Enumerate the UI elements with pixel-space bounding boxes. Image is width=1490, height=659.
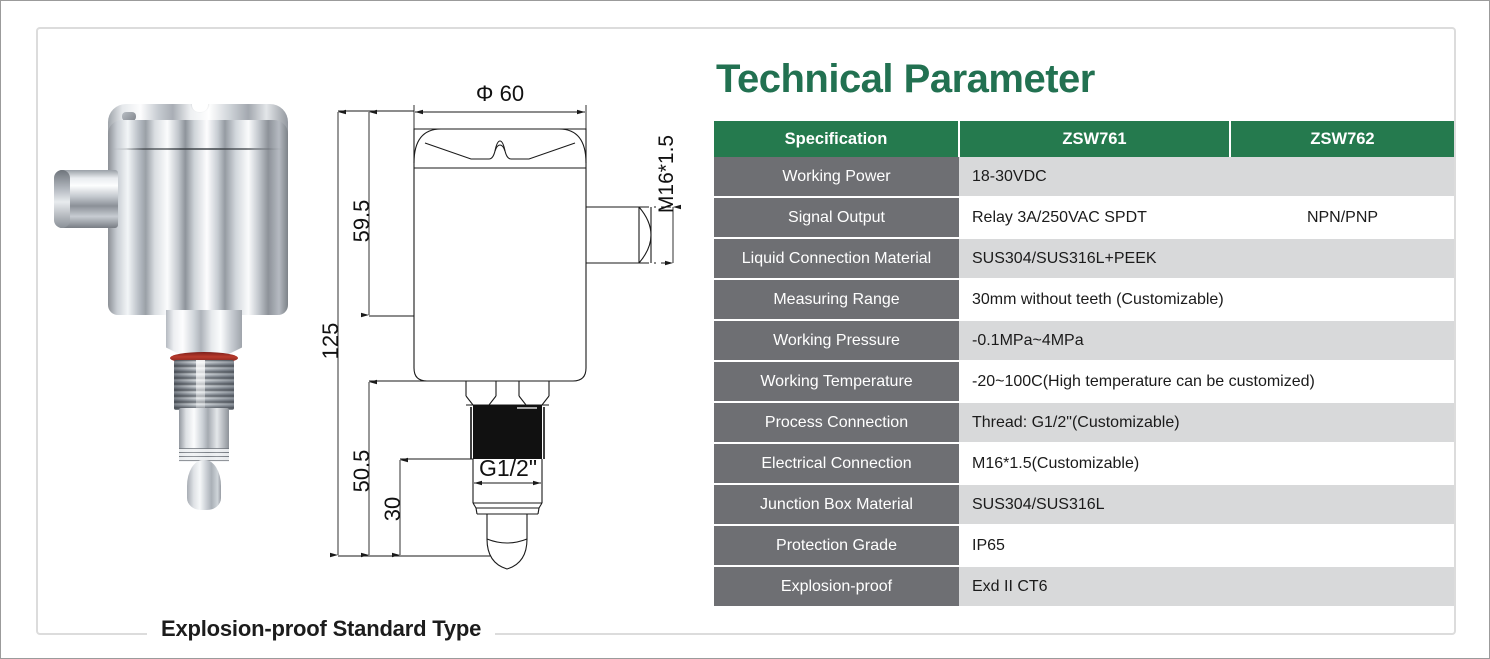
row-value-zsw762: NPN/PNP [1230,197,1454,238]
figure-caption: Explosion-proof Standard Type [161,616,481,642]
column-header-zsw762: ZSW762 [1230,121,1454,157]
product-photo [46,96,316,566]
row-key: Junction Box Material [714,484,959,525]
specification-table: Specification ZSW761 ZSW762 Working Powe… [714,121,1454,608]
cap-seam-line [112,148,284,150]
row-key: Explosion-proof [714,566,959,607]
table-row: Explosion-proof Exd II CT6 [714,566,1454,607]
page-title: Technical Parameter [716,59,1454,99]
column-header-specification: Specification [714,121,959,157]
table-row: Junction Box Material SUS304/SUS316L [714,484,1454,525]
dim-total-height: 125 [321,323,343,360]
row-key: Working Temperature [714,361,959,402]
thread-highlight [196,360,205,410]
table-header-row: Specification ZSW761 ZSW762 [714,121,1454,157]
row-key: Measuring Range [714,279,959,320]
row-value-zsw761: 18-30VDC [959,157,1454,197]
table-row: Signal Output Relay 3A/250VAC SPDT NPN/P… [714,197,1454,238]
dim-diameter: Φ 60 [476,81,524,106]
row-key: Liquid Connection Material [714,238,959,279]
row-value-zsw761: Thread: G1/2"(Customizable) [959,402,1454,443]
row-value-zsw761: -20~100C(High temperature can be customi… [959,361,1454,402]
dim-thread-length: 30 [380,497,405,521]
row-key: Electrical Connection [714,443,959,484]
table-row: Working Temperature -20~100C(High temper… [714,361,1454,402]
row-value-zsw761: 30mm without teeth (Customizable) [959,279,1454,320]
row-value-zsw761: IP65 [959,525,1454,566]
row-value-zsw761: Exd II CT6 [959,566,1454,607]
row-value-zsw761: SUS304/SUS316L+PEEK [959,238,1454,279]
caption-container: Explosion-proof Standard Type [147,612,495,646]
row-key: Working Pressure [714,320,959,361]
table-row: Protection Grade IP65 [714,525,1454,566]
row-key: Protection Grade [714,525,959,566]
table-row: Working Pressure -0.1MPa~4MPa [714,320,1454,361]
dim-process-thread: G1/2" [479,455,537,481]
cable-entry-face [54,170,70,228]
row-key: Process Connection [714,402,959,443]
table-row: Measuring Range 30mm without teeth (Cust… [714,279,1454,320]
row-key: Working Power [714,157,959,197]
cap-notch [192,100,208,112]
probe-tip [187,460,221,510]
row-value-zsw761: SUS304/SUS316L [959,484,1454,525]
row-value-zsw761: Relay 3A/250VAC SPDT [959,197,1230,238]
row-value-zsw761: -0.1MPa~4MPa [959,320,1454,361]
row-value-zsw761: M16*1.5(Customizable) [959,443,1454,484]
table-row: Electrical Connection M16*1.5(Customizab… [714,443,1454,484]
dim-probe-height: 50.5 [349,450,374,493]
row-key: Signal Output [714,197,959,238]
column-header-zsw761: ZSW761 [959,121,1230,157]
technical-parameter-section: Technical Parameter Specification ZSW761… [714,59,1454,608]
dim-housing-height: 59.5 [349,200,374,243]
hex-nut [166,310,242,358]
table-row: Liquid Connection Material SUS304/SUS316… [714,238,1454,279]
table-row: Process Connection Thread: G1/2"(Customi… [714,402,1454,443]
table-row: Working Power 18-30VDC [714,157,1454,197]
page-root: Φ 60 125 59.5 50.5 30 G1/2" M16*1.5 Tech… [0,0,1490,659]
engineering-drawing: Φ 60 125 59.5 50.5 30 G1/2" M16*1.5 [321,71,711,581]
dim-electrical-thread: M16*1.5 [655,135,678,213]
